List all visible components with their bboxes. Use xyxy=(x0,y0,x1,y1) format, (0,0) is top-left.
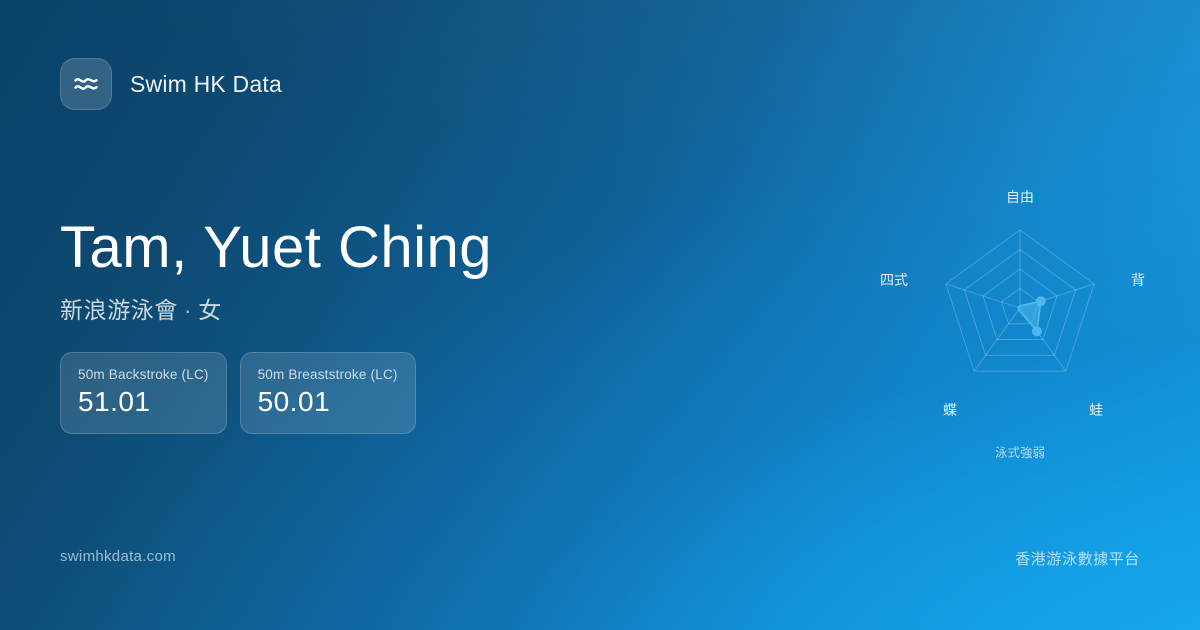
stat-card-label: 50m Breaststroke (LC) xyxy=(258,367,398,382)
brand-header: Swim HK Data xyxy=(60,58,282,110)
athlete-meta: 新浪游泳會·女 xyxy=(60,291,492,325)
radar-chart: 自由 背 蛙 蝶 四式 泳式強弱 xyxy=(860,160,1180,480)
radar-data-point xyxy=(1032,326,1042,336)
stat-card[interactable]: 50m Backstroke (LC) 51.01 xyxy=(60,352,227,434)
radar-caption: 泳式強弱 xyxy=(995,442,1045,461)
stat-card-label: 50m Backstroke (LC) xyxy=(78,367,209,382)
radar-axis-label-fly: 蝶 xyxy=(943,400,957,420)
footer-tagline: 香港游泳數據平台 xyxy=(1015,548,1140,569)
radar-axis-spoke xyxy=(946,284,1020,308)
radar-svg xyxy=(860,160,1180,480)
athlete-club: 新浪游泳會 xyxy=(60,297,178,323)
radar-axis-label-breast: 蛙 xyxy=(1089,400,1103,420)
radar-axis-label-back: 背 xyxy=(1131,270,1145,290)
brand-name: Swim HK Data xyxy=(130,71,282,98)
stat-card-value: 50.01 xyxy=(258,387,398,418)
radar-axis-label-free: 自由 xyxy=(1006,187,1034,207)
share-card: Swim HK Data Tam, Yuet Ching 新浪游泳會·女 50m… xyxy=(0,0,1200,630)
athlete-hero: Tam, Yuet Ching 新浪游泳會·女 xyxy=(60,218,492,325)
radar-axis-label-im: 四式 xyxy=(880,270,908,290)
meta-separator: · xyxy=(178,297,198,323)
stat-card-list: 50m Backstroke (LC) 51.01 50m Breaststro… xyxy=(60,352,416,434)
stat-card[interactable]: 50m Breaststroke (LC) 50.01 xyxy=(240,352,416,434)
radar-data-point xyxy=(1036,296,1046,306)
page-title: Tam, Yuet Ching xyxy=(60,218,492,279)
stat-card-value: 51.01 xyxy=(78,387,209,418)
wave-icon xyxy=(60,58,112,110)
athlete-gender: 女 xyxy=(198,297,222,323)
footer-site[interactable]: swimhkdata.com xyxy=(60,548,176,565)
